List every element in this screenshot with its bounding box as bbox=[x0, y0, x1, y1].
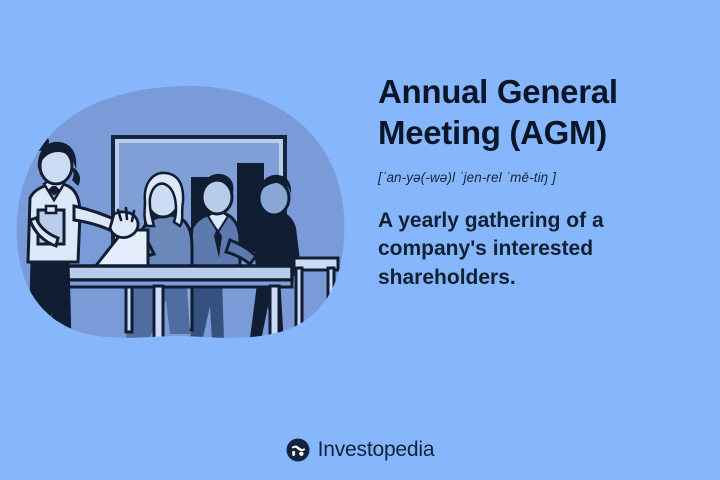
boardroom-meeting-illustration bbox=[8, 80, 356, 370]
investopedia-logo: Investopedia bbox=[0, 438, 720, 462]
presenter-hand bbox=[110, 208, 138, 238]
investopedia-wordmark: Investopedia bbox=[318, 438, 435, 462]
definition-card: Annual General Meeting (AGM) [ˈan-yə(-wə… bbox=[0, 0, 720, 480]
definition-text: A yearly gathering of a company's intere… bbox=[378, 207, 696, 293]
pronunciation-text: [ˈan-yə(-wə)l ˈjen-rel ˈmē-tiŋ ] bbox=[378, 170, 696, 185]
text-column: Annual General Meeting (AGM) [ˈan-yə(-wə… bbox=[378, 72, 696, 292]
page-title: Annual General Meeting (AGM) bbox=[378, 72, 696, 154]
investopedia-logo-icon bbox=[286, 438, 310, 462]
